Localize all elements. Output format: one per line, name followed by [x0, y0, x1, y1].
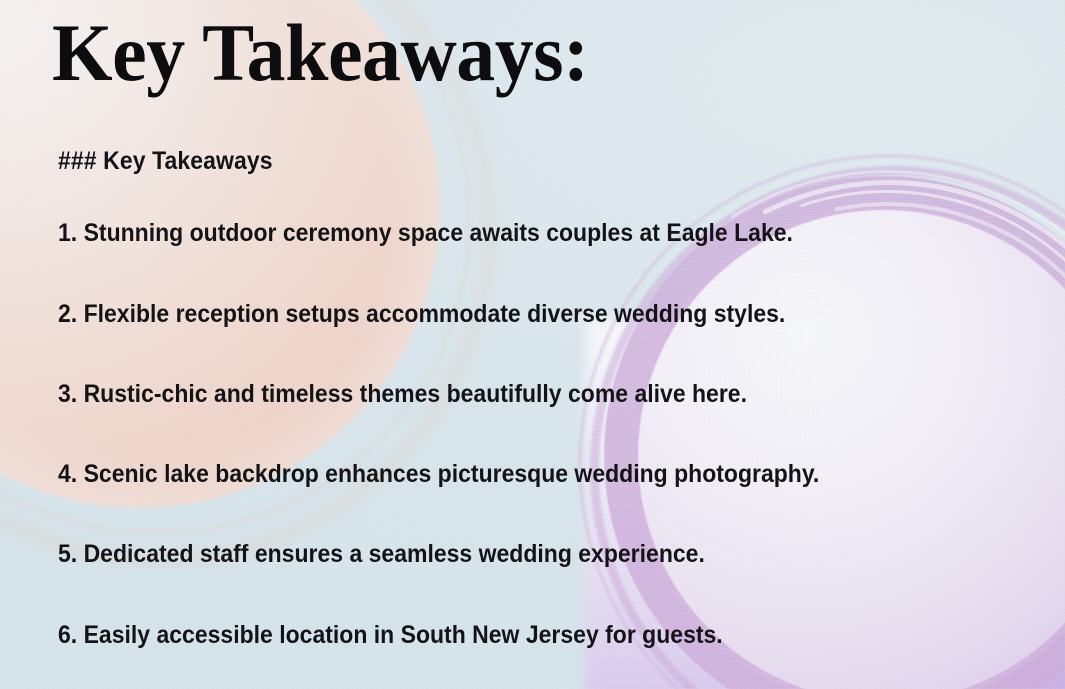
- content-layer: Key Takeaways: ### Key Takeaways 1. Stun…: [0, 0, 1065, 689]
- page-title: Key Takeaways:: [52, 12, 589, 94]
- takeaways-body: ### Key Takeaways 1. Stunning outdoor ce…: [58, 148, 1018, 648]
- list-item: 4. Scenic lake backdrop enhances picture…: [58, 461, 941, 487]
- section-heading: ### Key Takeaways: [58, 148, 941, 174]
- list-item: 6. Easily accessible location in South N…: [58, 622, 941, 648]
- takeaways-list: 1. Stunning outdoor ceremony space await…: [58, 220, 1018, 648]
- list-item: 5. Dedicated staff ensures a seamless we…: [58, 541, 941, 567]
- list-item: 2. Flexible reception setups accommodate…: [58, 301, 941, 327]
- list-item: 1. Stunning outdoor ceremony space await…: [58, 220, 941, 246]
- list-item: 3. Rustic-chic and timeless themes beaut…: [58, 381, 941, 407]
- takeaways-graphic-canvas: Key Takeaways: ### Key Takeaways 1. Stun…: [0, 0, 1065, 689]
